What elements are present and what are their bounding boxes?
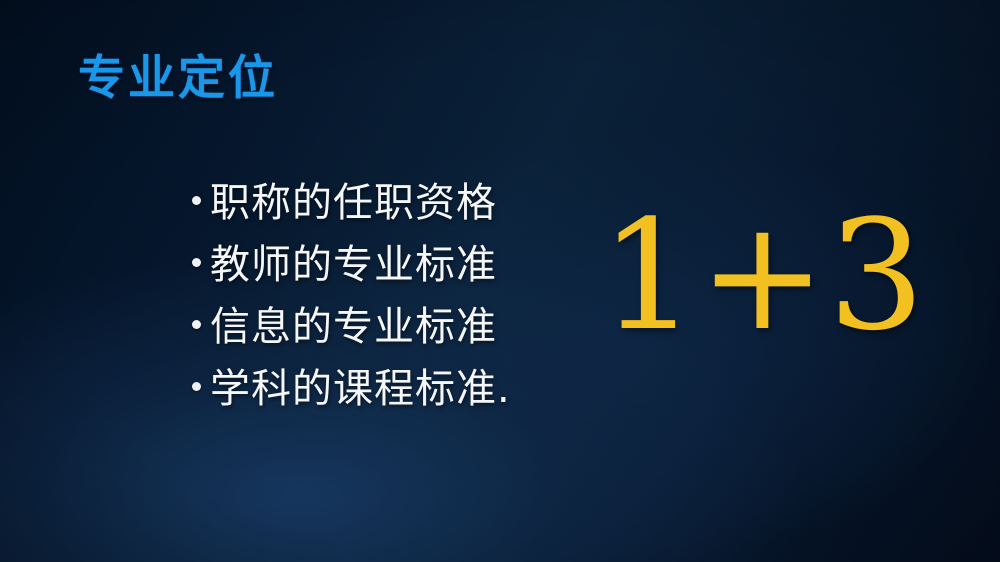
bullet-dot-icon	[192, 382, 201, 391]
page-title: 专业定位	[78, 52, 278, 106]
bullet-dot-icon	[192, 196, 201, 205]
bullet-list: 职称的任职资格 教师的专业标准 信息的专业标准 学科的课程标准.	[192, 168, 511, 416]
list-item-label: 教师的专业标准	[210, 232, 497, 290]
bullet-dot-icon	[192, 258, 201, 267]
bullet-dot-icon	[192, 320, 201, 329]
list-item: 信息的专业标准	[192, 292, 511, 354]
list-item: 学科的课程标准.	[192, 354, 511, 416]
list-item-label: 职称的任职资格	[210, 170, 497, 228]
list-item: 职称的任职资格	[192, 168, 511, 230]
list-item: 教师的专业标准	[192, 230, 511, 292]
list-item-label: 信息的专业标准	[210, 294, 497, 352]
list-item-label: 学科的课程标准.	[210, 356, 511, 414]
presentation-slide: 专业定位 职称的任职资格 教师的专业标准 信息的专业标准 学科的课程标准. 1+…	[0, 0, 1000, 562]
formula-callout: 1+3	[600, 200, 870, 352]
